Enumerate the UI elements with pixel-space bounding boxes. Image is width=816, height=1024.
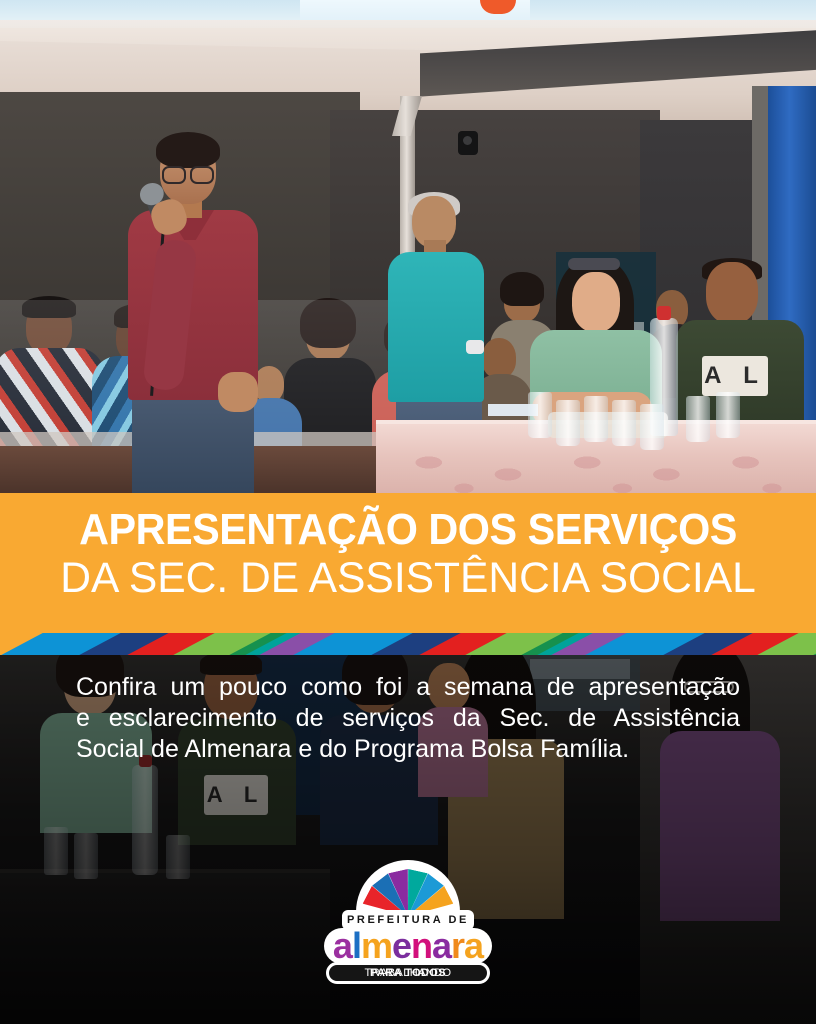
poster: A L APRESENTAÇÃ <box>0 0 816 1024</box>
person-hand <box>218 372 258 412</box>
person-hair <box>500 272 544 306</box>
wristwatch <box>466 340 484 354</box>
logo-wordmark-letters: almenara <box>312 926 504 966</box>
eyeglasses-icon <box>162 166 214 180</box>
logo-tagline-text: TRABALHANDO PARA TODOS <box>329 965 487 981</box>
logo-letter: a <box>432 925 451 966</box>
description-paragraph: Confira um pouco como foi a semana de ap… <box>76 672 740 765</box>
chevron-stripe <box>0 633 816 655</box>
person-head <box>482 338 516 378</box>
logo-letter: r <box>451 925 464 966</box>
logo-letter: a <box>333 925 352 966</box>
drinking-glass <box>528 392 552 438</box>
drinking-glass <box>612 400 636 446</box>
paragraph-line-2: e esclarecimento de serviços da Sec. de … <box>76 703 740 734</box>
security-camera-icon <box>458 131 478 155</box>
drinking-glass <box>686 396 710 442</box>
person-shirt <box>388 252 484 402</box>
drinking-glass <box>584 396 608 442</box>
person-face <box>572 272 620 332</box>
logo-letter: e <box>392 925 411 966</box>
title-line-2: DA SEC. DE ASSISTÊNCIA SOCIAL <box>4 555 812 601</box>
drinking-glass <box>716 392 740 438</box>
logo-letter: n <box>411 925 432 966</box>
logo-sunburst-icon <box>362 866 454 916</box>
sunglasses-icon <box>568 258 620 270</box>
almenara-logo: PREFEITURA DE almenara TRABALHANDO PARA … <box>312 860 504 988</box>
shirt-graphic: A L <box>702 356 768 396</box>
logo-wordmark: almenara <box>312 926 504 966</box>
paragraph-line-1: Confira um pouco como foi a semana de ap… <box>76 672 740 703</box>
chevron-unit <box>8 633 300 655</box>
person-head <box>706 262 758 324</box>
logo-tagline-badge: TRABALHANDO PARA TODOS <box>326 962 490 984</box>
logo-letter: a <box>464 925 483 966</box>
chevron-unit <box>592 633 816 655</box>
photo-top: A L <box>0 0 816 494</box>
logo-letter: l <box>352 925 361 966</box>
logo-arch <box>356 860 460 916</box>
drinking-glass <box>556 400 580 446</box>
title-line-1: APRESENTAÇÃO DOS SERVIÇOS <box>24 507 791 553</box>
title-band: APRESENTAÇÃO DOS SERVIÇOS DA SEC. DE ASS… <box>0 493 816 633</box>
person-hair <box>156 132 220 168</box>
drinking-glass <box>640 404 664 450</box>
logo-letter: m <box>361 925 392 966</box>
chevron-unit <box>300 633 592 655</box>
paragraph-line-3: Social de Almenara e do Programa Bolsa F… <box>76 734 740 765</box>
